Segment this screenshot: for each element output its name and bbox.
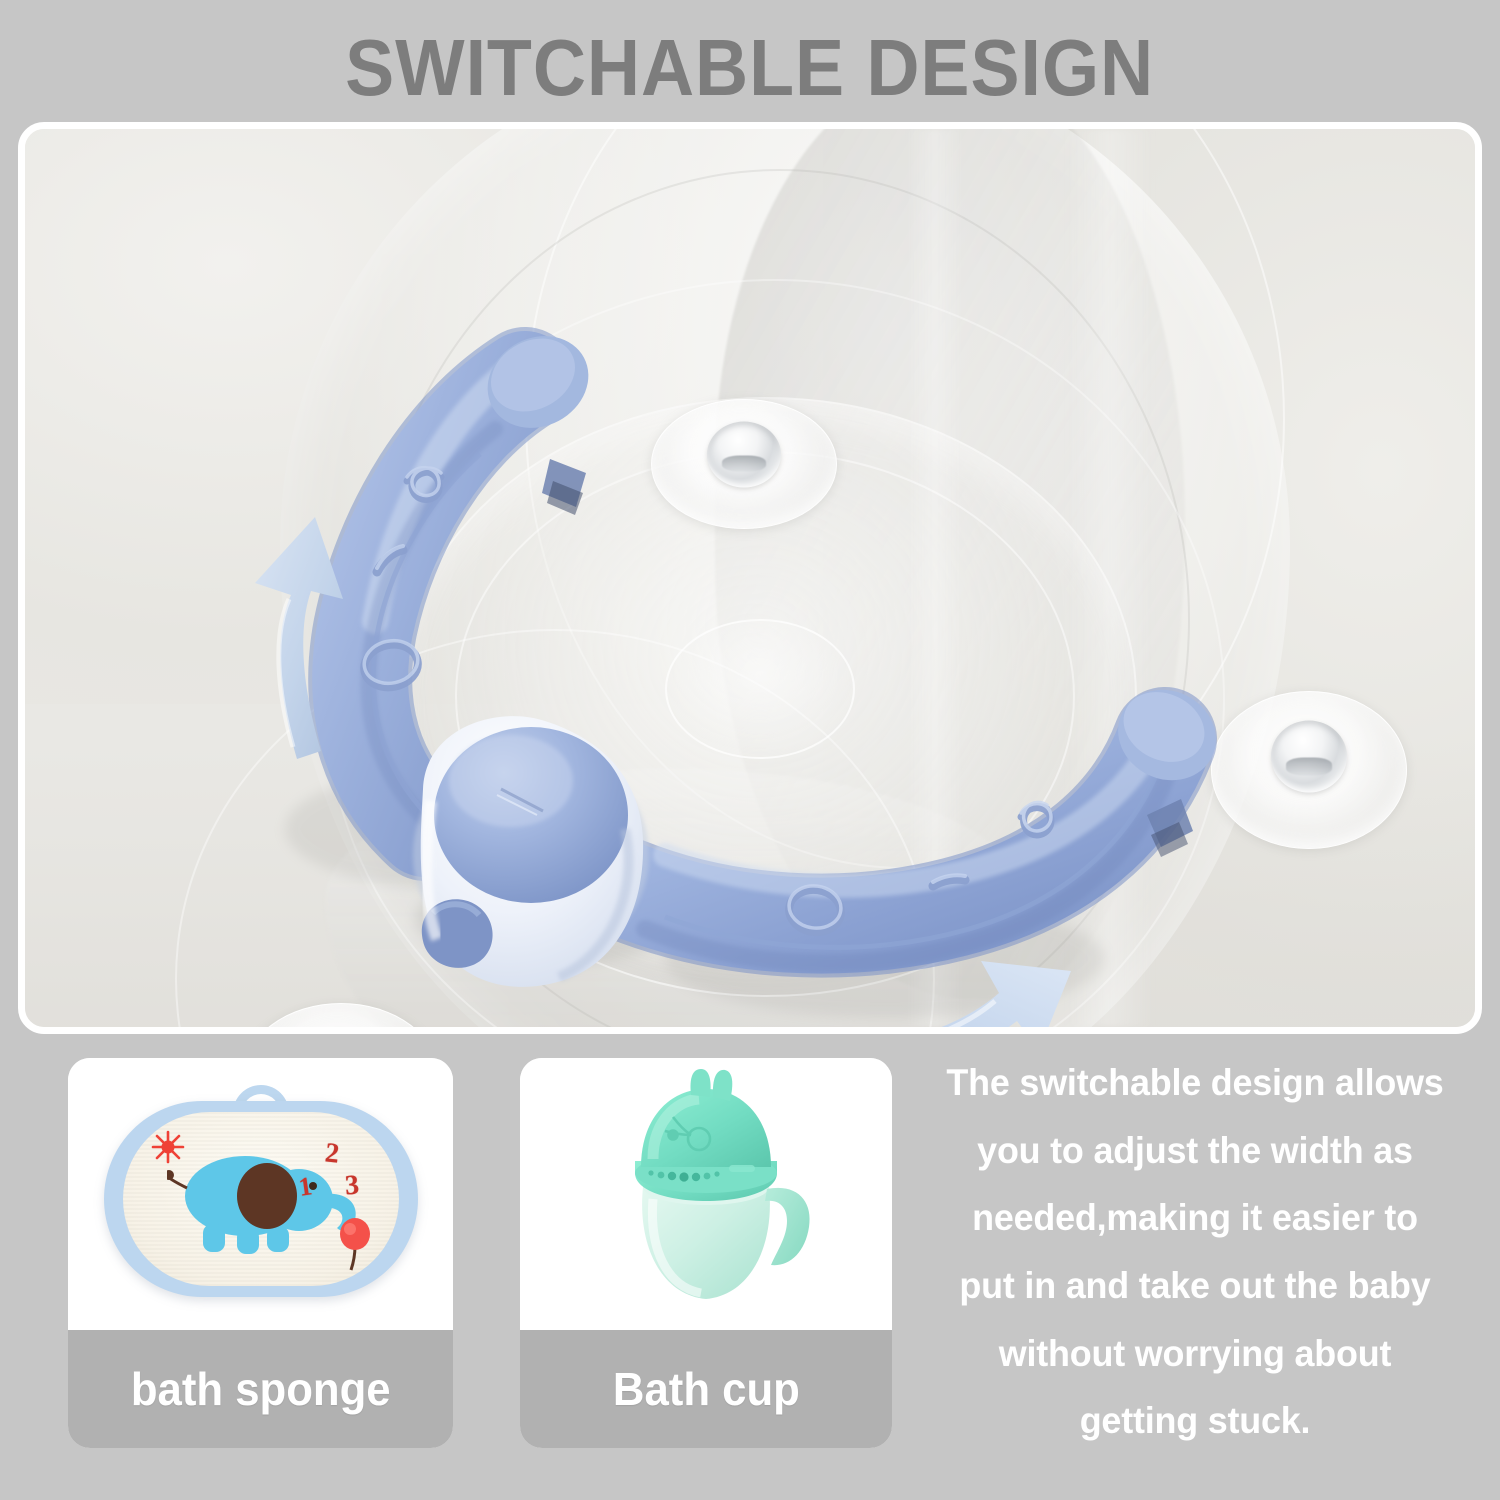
product-card-bath-cup[interactable]: Bath cup xyxy=(520,1058,892,1448)
description-line-3: needed,making it easier to xyxy=(913,1199,1478,1237)
sponge-artwork: 1 2 3 xyxy=(96,1087,426,1302)
bath-cup-image xyxy=(520,1058,892,1330)
bath-sponge-image: 1 2 3 xyxy=(68,1058,453,1330)
product-card-bath-sponge[interactable]: 1 2 3 xyxy=(68,1058,453,1448)
hero-scene xyxy=(25,129,1475,1027)
bath-cup-label: Bath cup xyxy=(613,1362,800,1416)
description-line-2: you to adjust the width as xyxy=(913,1132,1478,1170)
page-title: SWITCHABLE DESIGN xyxy=(346,28,1155,108)
sponge-number-3: 3 xyxy=(343,1169,359,1202)
sponge-flower-icon-2 xyxy=(337,1216,373,1272)
description-line-6: getting stuck. xyxy=(913,1402,1478,1440)
sponge-trim: 1 2 3 xyxy=(104,1101,418,1297)
bath-cup-label-strip: Bath cup xyxy=(520,1330,892,1448)
suction-cup-nub xyxy=(302,1029,380,1034)
arrow-up-left-icon xyxy=(231,507,391,767)
arrow-right-icon xyxy=(803,925,1083,1034)
description-line-4: put in and take out the baby xyxy=(913,1267,1478,1305)
bath-cup-artwork xyxy=(591,1069,821,1319)
sponge-terry-face: 1 2 3 xyxy=(123,1112,399,1286)
page-header: SWITCHABLE DESIGN xyxy=(0,22,1500,114)
description-line-1: The switchable design allows xyxy=(913,1064,1478,1102)
sponge-number-2: 2 xyxy=(323,1137,340,1170)
sponge-flower-icon-1 xyxy=(151,1130,185,1164)
description-line-5: without worrying about xyxy=(913,1335,1478,1373)
bath-sponge-label: bath sponge xyxy=(131,1362,391,1416)
hero-image-panel xyxy=(18,122,1482,1034)
bath-sponge-label-strip: bath sponge xyxy=(68,1330,453,1448)
description-block: The switchable design allows you to adju… xyxy=(900,1058,1490,1450)
